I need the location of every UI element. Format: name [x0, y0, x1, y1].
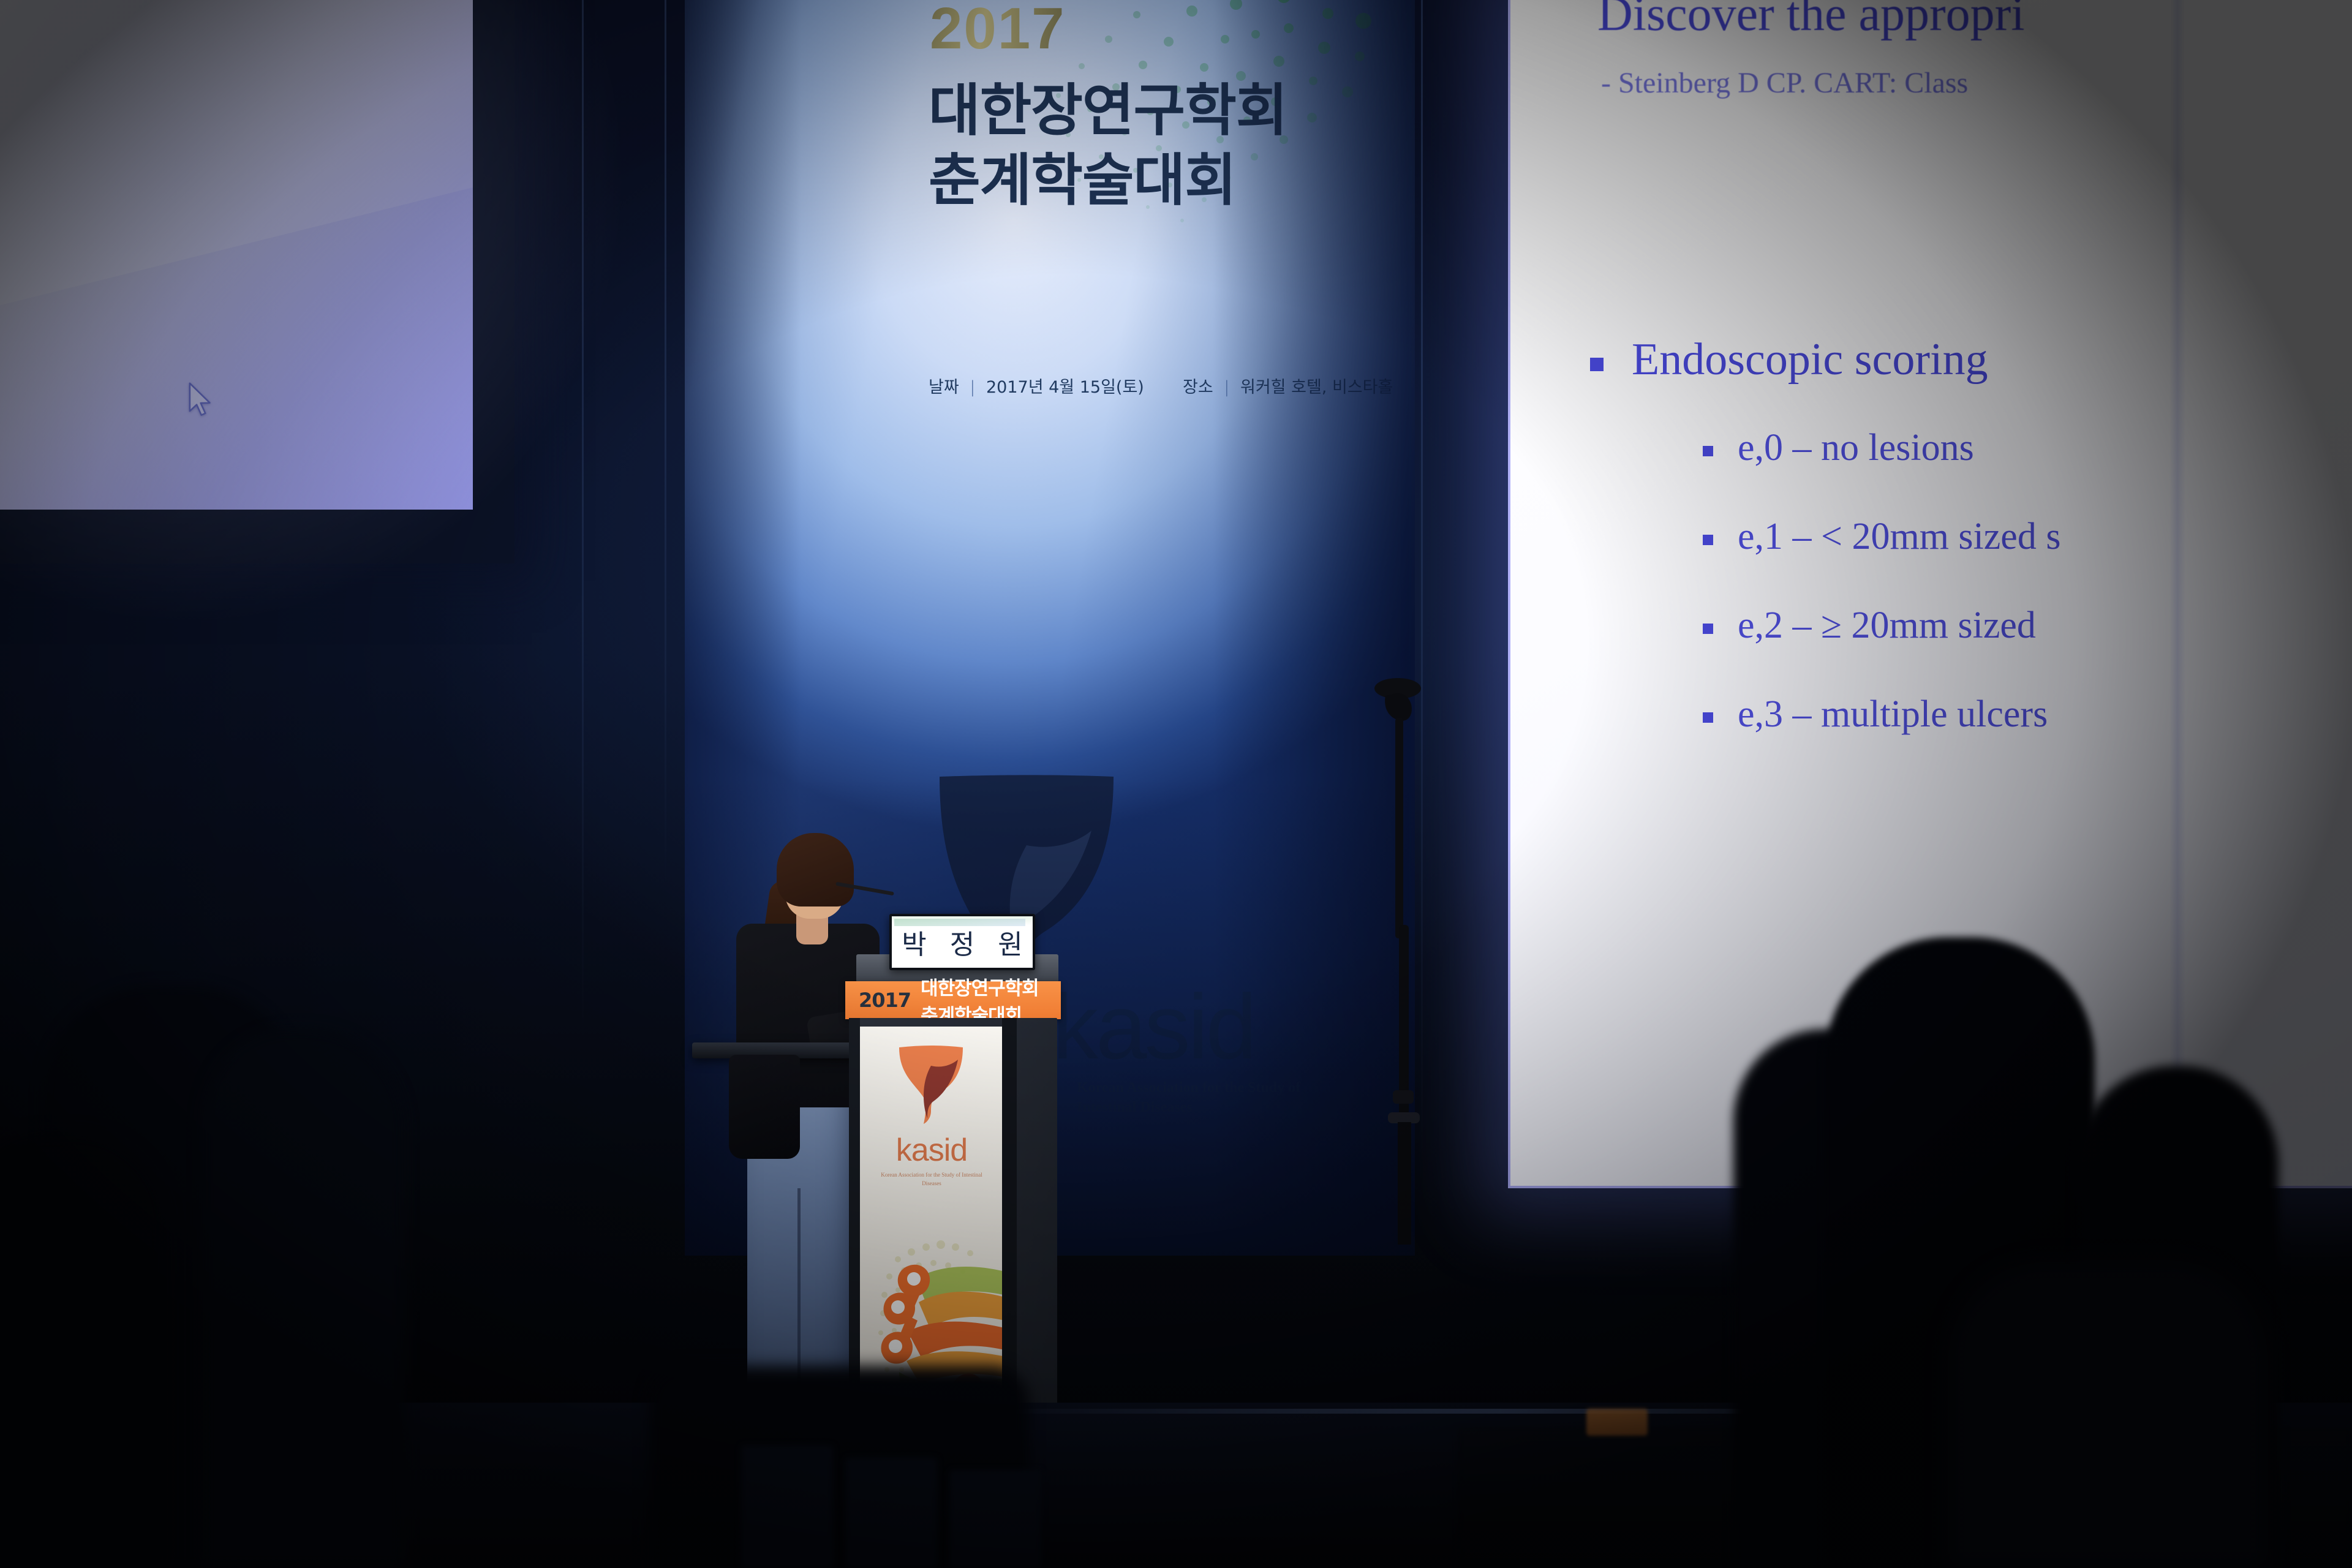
backdrop-date-value: 2017년 4월 15일(토): [986, 378, 1144, 397]
podium-banner-year: 2017: [859, 989, 911, 1012]
nameplate-header-strip: [894, 919, 1025, 926]
slide-bullet-text: e,1 – < 20mm sized s: [1738, 518, 2060, 556]
slide-bullet-level1: Endoscopic scoring: [1590, 337, 1988, 382]
handheld-device: [1586, 1409, 1648, 1436]
screen-panel-seam: [2169, 0, 2185, 1188]
backdrop-title-line-2: 춘계학술대회: [929, 135, 1236, 216]
podium-branding-panel: kasid Korean Association for the Study o…: [860, 1027, 1002, 1419]
podium-kasid-wordmark: kasid: [882, 1132, 981, 1169]
stage-chair: [845, 1458, 937, 1568]
bullet-square-icon: [1703, 624, 1713, 634]
backdrop-separator-1: |: [964, 378, 981, 397]
wall-seam-line: [582, 0, 584, 1041]
conference-photo-scene: 2017 대한장연구학회 춘계학술대회 날짜 | 2017년 4월 15일(토)…: [0, 0, 2352, 1568]
backdrop-venue-label: 장소: [1183, 378, 1213, 397]
kasid-logo-mark-icon: [897, 1045, 965, 1125]
podium-kasid-tagline: Korean Association for the Study of Inte…: [875, 1171, 989, 1188]
speaker-nameplate-display: 박 정 원: [889, 914, 1035, 970]
slide-bullet-text: e,2 – ≥ 20mm sized: [1738, 606, 2036, 644]
slide-title: Discover the appropri: [1597, 0, 2025, 42]
podium-event-banner: 2017 대한장연구학회 춘계학술대회: [845, 981, 1061, 1019]
bullet-square-icon: [1703, 535, 1713, 545]
slide-bullet-level2: e,0 – no lesions: [1703, 429, 1974, 467]
speaker-trouser-seam: [797, 1188, 801, 1390]
backdrop-year: 2017: [930, 0, 1066, 62]
stage-chair: [741, 1445, 833, 1568]
slide-bullet-level2: e,3 – multiple ulcers: [1703, 695, 2048, 733]
nameplate-speaker-name: 박 정 원: [894, 922, 1030, 962]
slide-bullet-text: Endoscopic scoring: [1632, 337, 1988, 382]
left-projection-screen-frame: [0, 0, 514, 563]
bullet-square-icon: [1590, 358, 1604, 371]
microphone-stand-icon: [1347, 661, 1482, 1396]
bullet-square-icon: [1703, 446, 1713, 456]
audience-silhouette: [202, 1029, 404, 1568]
wall-seam-line: [665, 0, 666, 888]
slide-bullet-text: e,3 – multiple ulcers: [1738, 695, 2048, 733]
slide-bullet-text: e,0 – no lesions: [1738, 429, 1974, 467]
slide-bullet-level2: e,2 – ≥ 20mm sized: [1703, 606, 2036, 644]
speaker-hair: [777, 833, 854, 907]
slide-bullet-level2: e,1 – < 20mm sized s: [1703, 518, 2060, 556]
speaker-bag: [729, 1055, 800, 1159]
stage-chair: [949, 1470, 1041, 1568]
left-projection-screen: [0, 0, 473, 510]
slide-citation: - Steinberg D CP. CART: Class: [1601, 66, 1968, 100]
backdrop-date-label: 날짜: [929, 378, 959, 397]
audience-silhouette: [0, 1133, 165, 1568]
audience-silhouette: [1948, 1262, 2266, 1568]
mouse-pointer-arrow-icon: [187, 382, 214, 418]
bullet-square-icon: [1703, 712, 1713, 723]
